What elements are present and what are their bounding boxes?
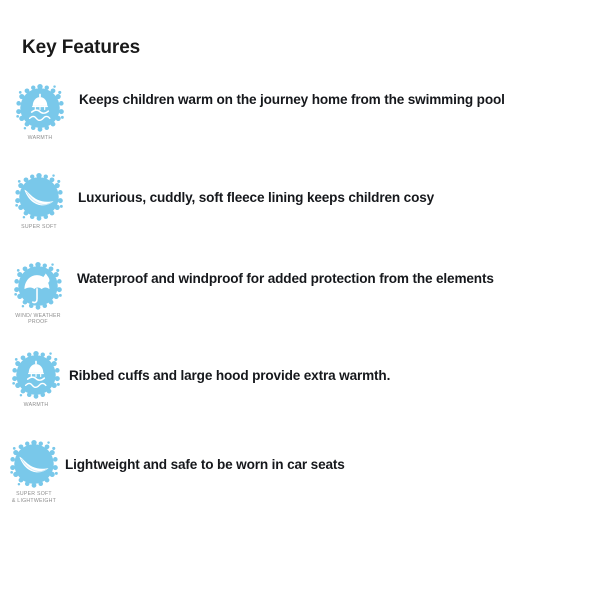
features-list: WARMTH Keeps children warm on the journe… <box>0 78 600 523</box>
feature-item: SUPER SOFT & LIGHTWEIGHT Lightweight and… <box>0 434 600 523</box>
wind-weather-proof-badge-icon <box>12 260 64 312</box>
feature-badge-caption: WARMTH <box>0 402 75 408</box>
feature-item: WARMTH Keeps children warm on the journe… <box>0 78 600 167</box>
feature-text: Luxurious, cuddly, soft fleece lining ke… <box>78 167 591 209</box>
feature-item: SUPER SOFT Luxurious, cuddly, soft fleec… <box>0 167 600 256</box>
warmth-badge-icon <box>14 82 66 134</box>
warmth-badge-icon <box>10 349 62 401</box>
key-features-panel: Key Features <box>0 0 600 599</box>
page-title: Key Features <box>22 36 140 60</box>
super-soft-lightweight-badge-icon <box>8 438 60 490</box>
super-soft-badge-icon <box>13 171 65 223</box>
feature-badge-caption: SUPER SOFT <box>0 224 78 230</box>
feature-badge: WARMTH <box>1 78 79 141</box>
feature-badge: SUPER SOFT <box>0 167 78 230</box>
feature-badge: WARMTH <box>0 345 75 408</box>
feature-badge: SUPER SOFT & LIGHTWEIGHT <box>0 434 73 504</box>
feature-item: WIND/ WEATHER PROOF Waterproof and windp… <box>0 256 600 345</box>
feature-badge-caption: WARMTH <box>1 135 79 141</box>
feature-text: Lightweight and safe to be worn in car s… <box>65 434 578 476</box>
feature-text: Keeps children warm on the journey home … <box>79 78 590 111</box>
feature-text: Ribbed cuffs and large hood provide extr… <box>69 345 582 387</box>
feature-item: WARMTH Ribbed cuffs and large hood provi… <box>0 345 600 434</box>
feature-badge-caption: WIND/ WEATHER PROOF <box>0 313 77 325</box>
feature-text: Waterproof and windproof for added prote… <box>77 256 590 290</box>
feature-badge: WIND/ WEATHER PROOF <box>0 256 77 325</box>
feature-badge-caption: SUPER SOFT & LIGHTWEIGHT <box>0 491 73 504</box>
